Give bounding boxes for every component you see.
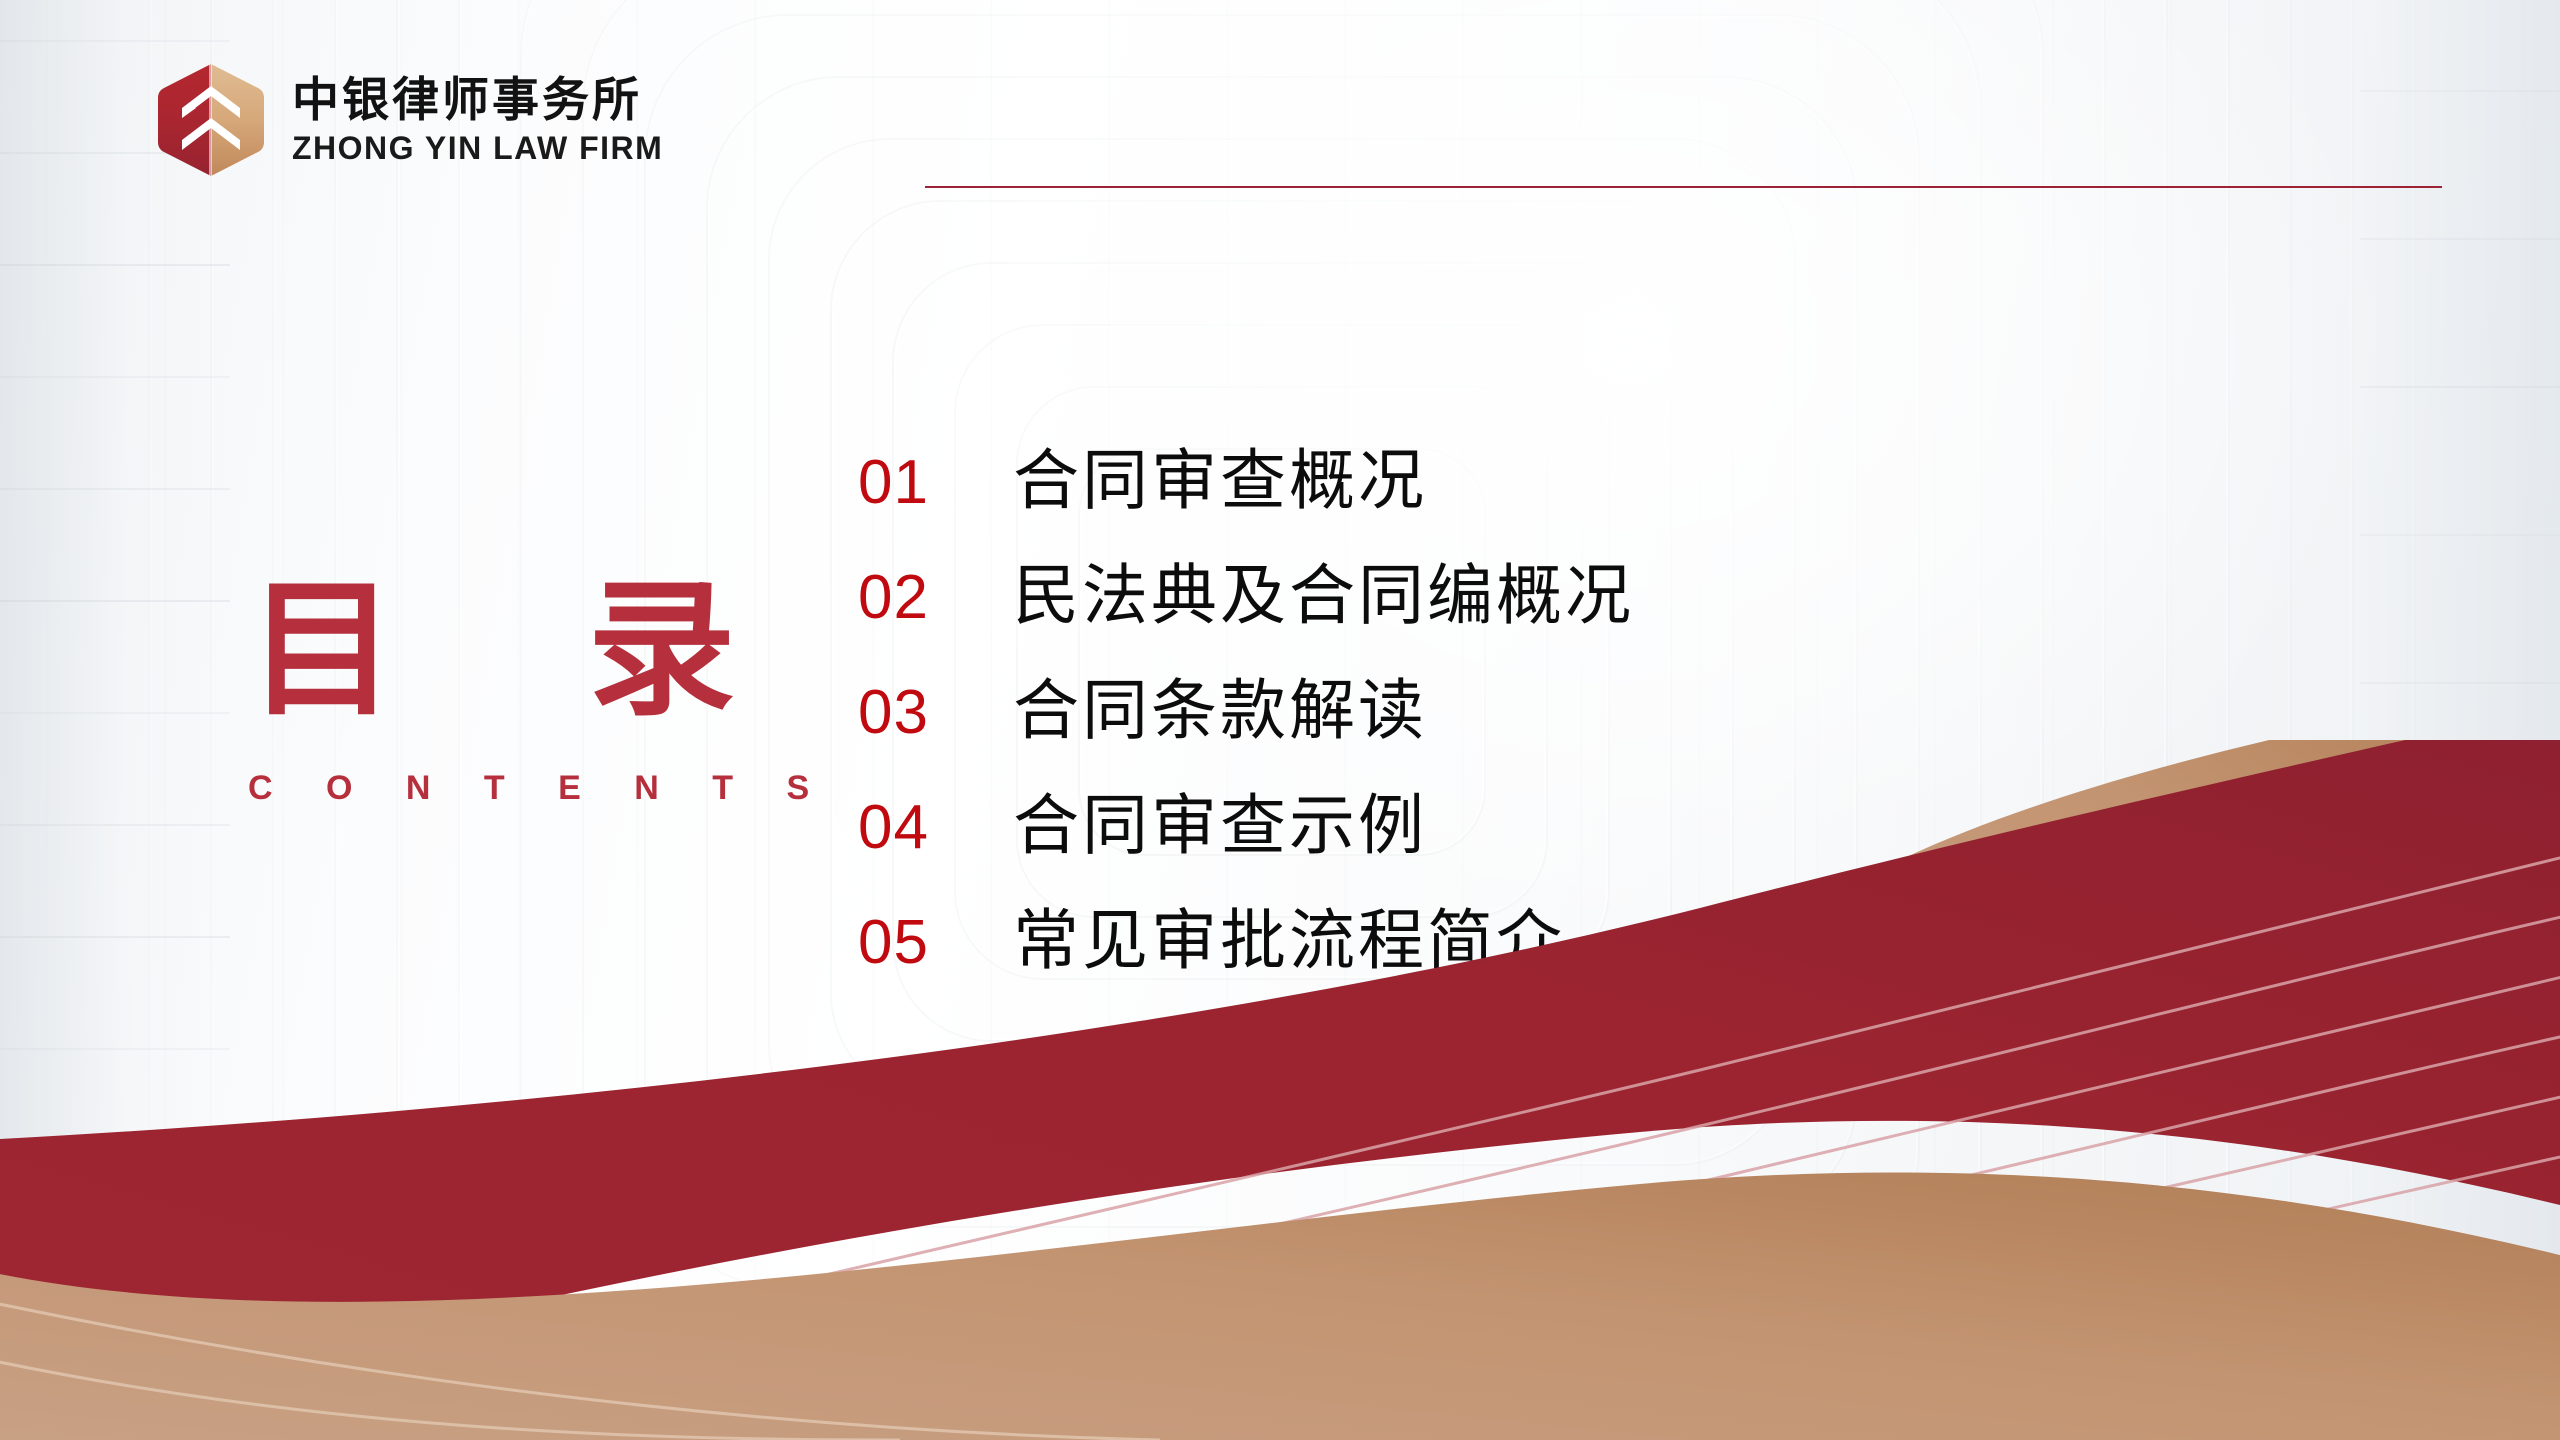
brand-logo-text: 中银律师事务所 ZHONG YIN LAW FIRM xyxy=(292,74,663,166)
toc-item-number: 02 xyxy=(858,567,1013,629)
toc-item[interactable]: 01合同审查概况 xyxy=(858,448,1634,563)
toc-item-label: 合同审查概况 xyxy=(1013,448,1427,514)
brand-name-en: ZHONG YIN LAW FIRM xyxy=(292,130,663,166)
brand-name-cn: 中银律师事务所 xyxy=(292,74,663,128)
brand-logo: 中银律师事务所 ZHONG YIN LAW FIRM xyxy=(152,62,663,178)
page-title-cn: 目 录 xyxy=(248,575,718,725)
zhongyin-hexagon-logo-icon xyxy=(152,62,270,178)
slide-canvas: 中银律师事务所 ZHONG YIN LAW FIRM 目 录 C O N T E… xyxy=(0,0,2560,1440)
toc-item-label: 民法典及合同编概况 xyxy=(1013,563,1634,629)
decorative-ribbons xyxy=(0,740,2560,1440)
toc-item-number: 03 xyxy=(858,682,1013,744)
toc-item[interactable]: 02民法典及合同编概况 xyxy=(858,563,1634,678)
toc-item-number: 01 xyxy=(858,452,1013,514)
toc-item-label: 合同条款解读 xyxy=(1013,678,1427,744)
header-divider-rule xyxy=(925,186,2442,188)
